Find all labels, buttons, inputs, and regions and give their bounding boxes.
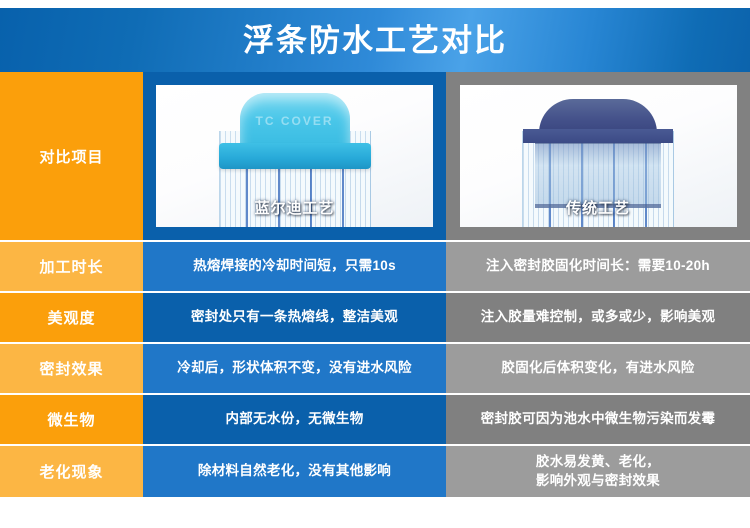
row-landi-cell: 密封处只有一条热熔线，整洁美观 (143, 293, 446, 342)
table-row: 微生物 内部无水份，无微生物 密封胶可因为池水中微生物污染而发霉 (0, 395, 750, 444)
header-right-image-cell: 传统工艺 (446, 72, 750, 240)
row-landi-cell: 除材料自然老化，没有其他影响 (143, 446, 446, 497)
header-banner: 浮条防水工艺对比 (0, 8, 750, 72)
header-label-cell: 对比项目 (0, 72, 143, 240)
row-traditional-cell: 注入胶量难控制，或多或少，影响美观 (446, 293, 750, 342)
row-traditional-text: 注入密封胶固化时间长：需要10-20h (486, 257, 710, 275)
row-label-cell: 老化现象 (0, 446, 143, 497)
traditional-flange (523, 129, 673, 143)
heat-weld-flange (219, 143, 371, 169)
row-label-text: 美观度 (47, 307, 95, 328)
row-landi-cell: 热熔焊接的冷却时间短，只需10s (143, 242, 446, 291)
page-title: 浮条防水工艺对比 (243, 25, 507, 56)
row-traditional-text: 胶水易发黄、老化， (536, 453, 660, 471)
row-traditional-cell: 注入密封胶固化时间长：需要10-20h (446, 242, 750, 291)
row-label-text: 密封效果 (39, 358, 103, 379)
row-landi-text: 密封处只有一条热熔线，整洁美观 (191, 308, 398, 326)
row-label-text: 加工时长 (39, 256, 103, 277)
traditional-cap (539, 99, 657, 133)
left-photo-caption: 蓝尔迪工艺 (156, 199, 433, 219)
product-photo-traditional: 传统工艺 (460, 85, 737, 227)
table-row: 老化现象 除材料自然老化，没有其他影响 胶水易发黄、老化， 影响外观与密封效果 (0, 446, 750, 497)
row-traditional-cell: 密封胶可因为池水中微生物污染而发霉 (446, 395, 750, 444)
row-traditional-cell: 胶水易发黄、老化， 影响外观与密封效果 (446, 446, 750, 497)
row-landi-text: 内部无水份，无微生物 (226, 410, 364, 428)
table-header-row: 对比项目 TC COVER (0, 72, 750, 240)
header-label-text: 对比项目 (39, 146, 103, 167)
row-traditional-cell: 胶固化后体积变化，有进水风险 (446, 344, 750, 393)
comparison-infographic: 浮条防水工艺对比 对比项目 TC (0, 0, 750, 528)
row-label-cell: 密封效果 (0, 344, 143, 393)
table-row: 密封效果 冷却后，形状体积不变，没有进水风险 胶固化后体积变化，有进水风险 (0, 344, 750, 393)
row-landi-text: 除材料自然老化，没有其他影响 (198, 462, 391, 480)
cap-embossed-text: TC COVER (240, 113, 350, 129)
row-traditional-text-line2: 影响外观与密封效果 (536, 472, 660, 490)
right-photo-caption: 传统工艺 (460, 199, 737, 219)
row-label-text: 老化现象 (39, 461, 103, 482)
header-left-image-cell: TC COVER 蓝尔迪工艺 (143, 72, 446, 240)
table-row: 美观度 密封处只有一条热熔线，整洁美观 注入胶量难控制，或多或少，影响美观 (0, 293, 750, 342)
row-label-cell: 加工时长 (0, 242, 143, 291)
row-landi-text: 热熔焊接的冷却时间短，只需10s (193, 257, 396, 275)
row-label-cell: 美观度 (0, 293, 143, 342)
row-traditional-text: 密封胶可因为池水中微生物污染而发霉 (481, 410, 716, 428)
table-row: 加工时长 热熔焊接的冷却时间短，只需10s 注入密封胶固化时间长：需要10-20… (0, 242, 750, 291)
row-traditional-text: 注入胶量难控制，或多或少，影响美观 (481, 308, 716, 326)
row-landi-cell: 内部无水份，无微生物 (143, 395, 446, 444)
row-label-cell: 微生物 (0, 395, 143, 444)
row-label-text: 微生物 (47, 409, 95, 430)
product-photo-landi: TC COVER 蓝尔迪工艺 (156, 85, 433, 227)
row-traditional-text: 胶固化后体积变化，有进水风险 (501, 359, 694, 377)
comparison-table: 对比项目 TC COVER (0, 72, 750, 511)
row-landi-text: 冷却后，形状体积不变，没有进水风险 (177, 359, 412, 377)
row-landi-cell: 冷却后，形状体积不变，没有进水风险 (143, 344, 446, 393)
